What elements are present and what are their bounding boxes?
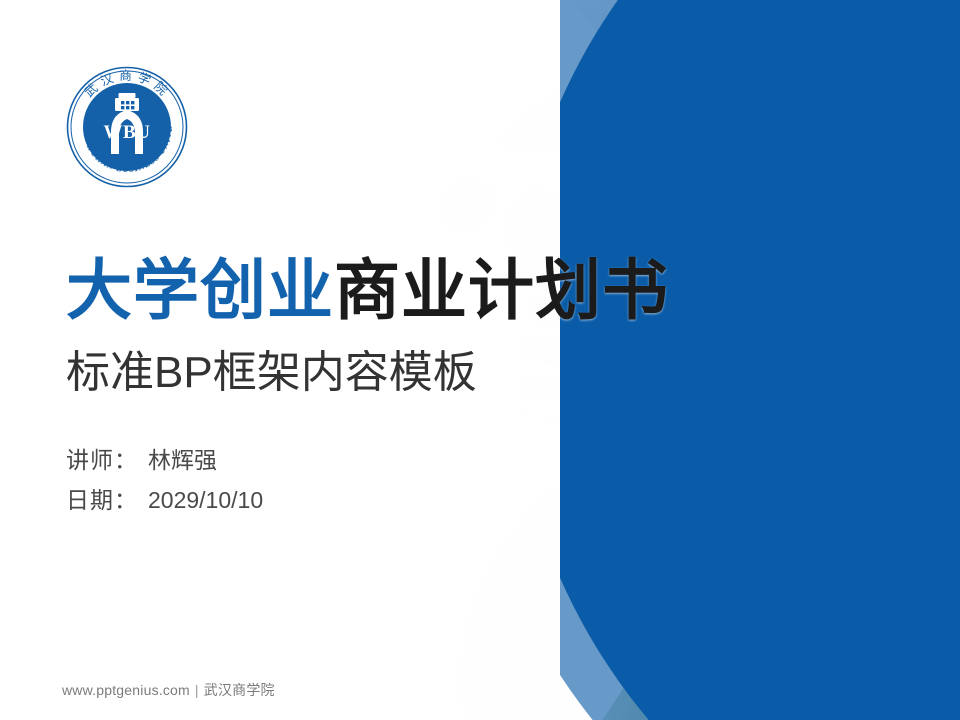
date-label: 日期： xyxy=(66,487,138,513)
blue-corner-wedge xyxy=(560,0,960,720)
page-subtitle: 标准BP框架内容模板 xyxy=(66,351,477,395)
footer: www.pptgenius.com|武汉商学院 xyxy=(62,680,275,700)
presenter-row: 讲师：林辉强 xyxy=(66,440,263,480)
blue-wedge-shape xyxy=(560,0,960,720)
date-row: 日期：2029/10/10 xyxy=(66,480,263,520)
svg-text:WBU: WBU xyxy=(104,122,151,143)
presentation-meta: 讲师：林辉强 日期：2029/10/10 xyxy=(66,440,263,520)
page-title: 大学创业商业计划书 xyxy=(66,257,669,323)
title-accent-text: 大学创业 xyxy=(66,253,334,327)
title-dark-text: 商业计划书 xyxy=(334,253,669,327)
presenter-value: 林辉强 xyxy=(148,447,217,473)
title-slide: WBU 武汉商学院 WUHAN BUSINESS UNIVERSITY 大学创业… xyxy=(0,0,960,720)
wbu-emblem-icon: WBU 武汉商学院 WUHAN BUSINESS UNIVERSITY xyxy=(66,66,188,188)
university-logo: WBU 武汉商学院 WUHAN BUSINESS UNIVERSITY xyxy=(66,66,188,188)
footer-site-url[interactable]: www.pptgenius.com xyxy=(62,682,190,698)
date-value: 2029/10/10 xyxy=(148,487,263,513)
footer-organization: 武汉商学院 xyxy=(204,682,275,698)
presenter-label: 讲师： xyxy=(66,447,138,473)
footer-separator: | xyxy=(195,682,199,698)
